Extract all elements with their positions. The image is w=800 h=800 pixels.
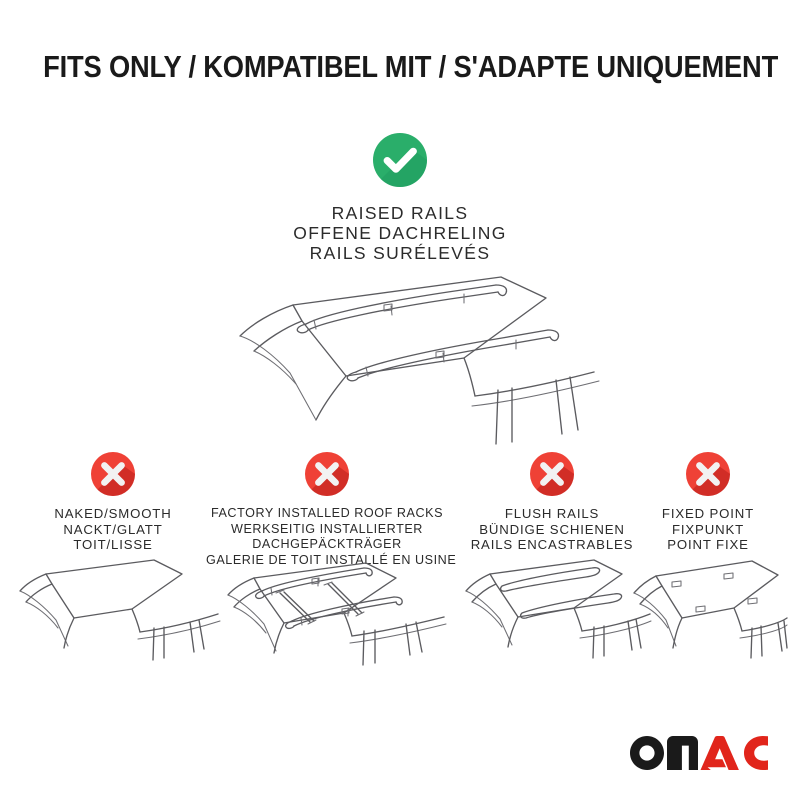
page-title: FITS ONLY / KOMPATIBEL MIT / S'ADAPTE UN… bbox=[43, 52, 778, 83]
omac-logo bbox=[630, 736, 768, 770]
car-roof-with-flush-rails-illustration bbox=[452, 556, 652, 682]
item-label-fr: RAILS ENCASTRABLES bbox=[452, 537, 652, 553]
item-label-de: FIXPUNKT bbox=[628, 522, 788, 538]
item-labels: FIXED POINT FIXPUNKT POINT FIXE bbox=[628, 506, 788, 553]
item-label-en: FACTORY INSTALLED ROOF RACKS bbox=[206, 506, 448, 522]
compatible-label-en: RAISED RAILS bbox=[0, 203, 800, 223]
item-label-de: BÜNDIGE SCHIENEN bbox=[452, 522, 652, 538]
incompatible-item-naked-smooth: NAKED/SMOOTH NACKT/GLATT TOIT/LISSE bbox=[4, 452, 222, 553]
x-circle-icon bbox=[91, 452, 135, 496]
incompatible-item-factory-installed-roof-racks: FACTORY INSTALLED ROOF RACKS WERKSEITIG … bbox=[206, 452, 448, 568]
incompatible-item-fixed-point: FIXED POINT FIXPUNKT POINT FIXE bbox=[628, 452, 788, 553]
compatible-label-fr: RAILS SURÉLEVÉS bbox=[0, 243, 800, 263]
car-roof-with-fixed-points-illustration bbox=[628, 556, 788, 682]
compatible-label-de: OFFENE DACHRELING bbox=[0, 223, 800, 243]
x-circle-icon bbox=[305, 452, 349, 496]
item-label-en: FIXED POINT bbox=[628, 506, 788, 522]
car-roof-bare-illustration bbox=[4, 556, 222, 682]
item-label-en: NAKED/SMOOTH bbox=[4, 506, 222, 522]
item-label-fr: TOIT/LISSE bbox=[4, 537, 222, 553]
item-label-fr: POINT FIXE bbox=[628, 537, 788, 553]
item-labels: FLUSH RAILS BÜNDIGE SCHIENEN RAILS ENCAS… bbox=[452, 506, 652, 553]
car-roof-with-rails-and-crossbars-illustration bbox=[206, 553, 448, 685]
compatible-labels: RAISED RAILS OFFENE DACHRELING RAILS SUR… bbox=[0, 203, 800, 263]
item-label-en: FLUSH RAILS bbox=[452, 506, 652, 522]
item-label-de-2: DACHGEPÄCKTRÄGER bbox=[206, 537, 448, 553]
incompatible-item-flush-rails: FLUSH RAILS BÜNDIGE SCHIENEN RAILS ENCAS… bbox=[452, 452, 652, 553]
x-circle-icon bbox=[686, 452, 730, 496]
x-circle-icon bbox=[530, 452, 574, 496]
item-labels: NAKED/SMOOTH NACKT/GLATT TOIT/LISSE bbox=[4, 506, 222, 553]
page-title-bar: FITS ONLY / KOMPATIBEL MIT / S'ADAPTE UN… bbox=[0, 52, 800, 83]
item-label-de-1: WERKSEITIG INSTALLIERTER bbox=[206, 522, 448, 538]
compatible-section: RAISED RAILS OFFENE DACHRELING RAILS SUR… bbox=[0, 133, 800, 263]
car-roof-with-raised-rails-illustration bbox=[196, 272, 606, 457]
check-circle-icon bbox=[373, 133, 427, 187]
item-label-de: NACKT/GLATT bbox=[4, 522, 222, 538]
